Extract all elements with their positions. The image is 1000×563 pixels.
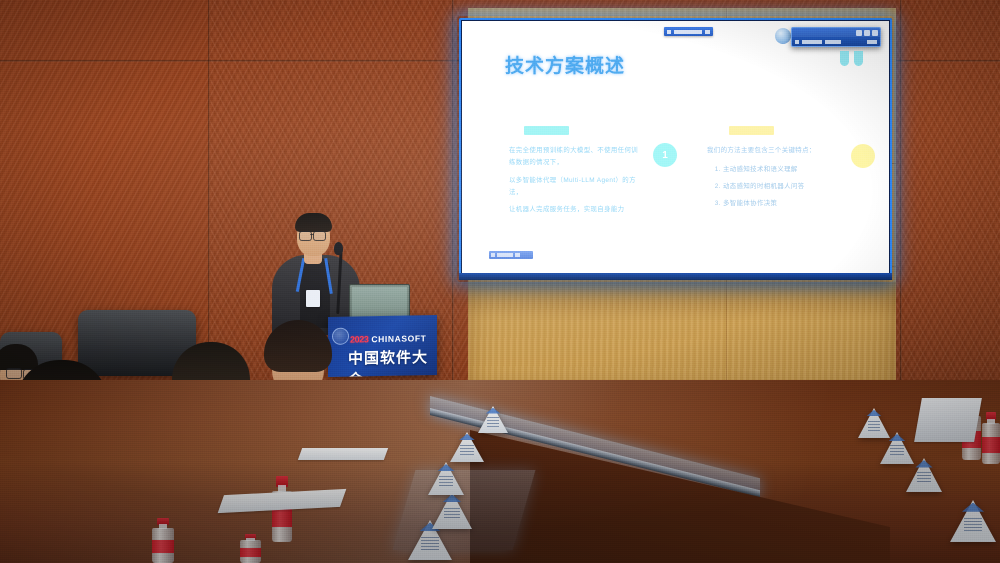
scene-vignette: [0, 0, 1000, 563]
conference-room-scene: 技术方案概述 1 在完全使用预训练的大模型、不使用任何训练数据的情况下， 以多智…: [0, 0, 1000, 563]
